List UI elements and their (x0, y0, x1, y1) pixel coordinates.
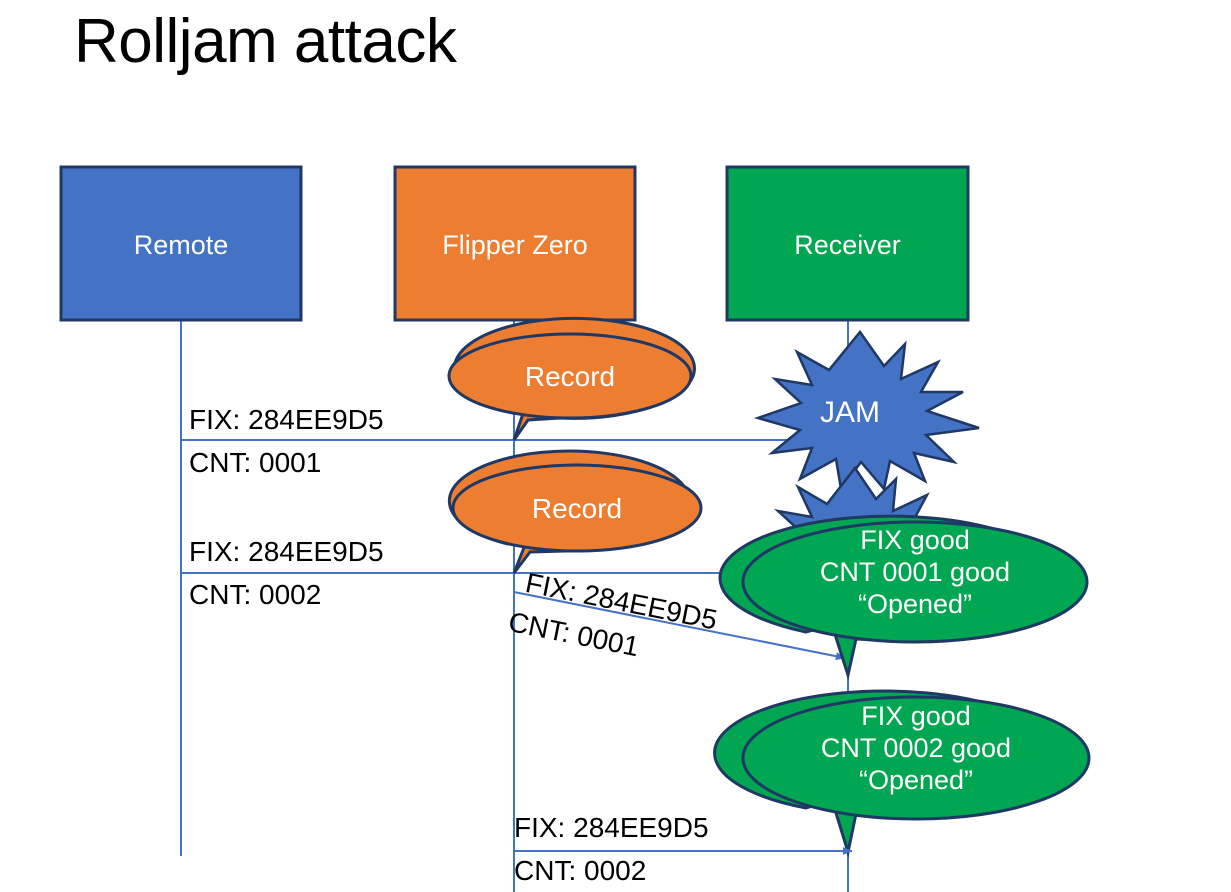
actor-box-receiver[interactable] (727, 167, 968, 320)
callout-result-2[interactable] (715, 691, 1089, 852)
callout-record-1[interactable] (449, 318, 694, 440)
diagram-artwork (0, 0, 1231, 892)
callout-result-1[interactable] (720, 516, 1087, 675)
actor-box-flipper[interactable] (395, 167, 635, 320)
slide-canvas: Rolljam attack (0, 0, 1231, 892)
actor-box-remote[interactable] (61, 167, 301, 320)
jam-burst-1[interactable] (758, 332, 979, 489)
callout-record-2[interactable] (449, 451, 701, 573)
